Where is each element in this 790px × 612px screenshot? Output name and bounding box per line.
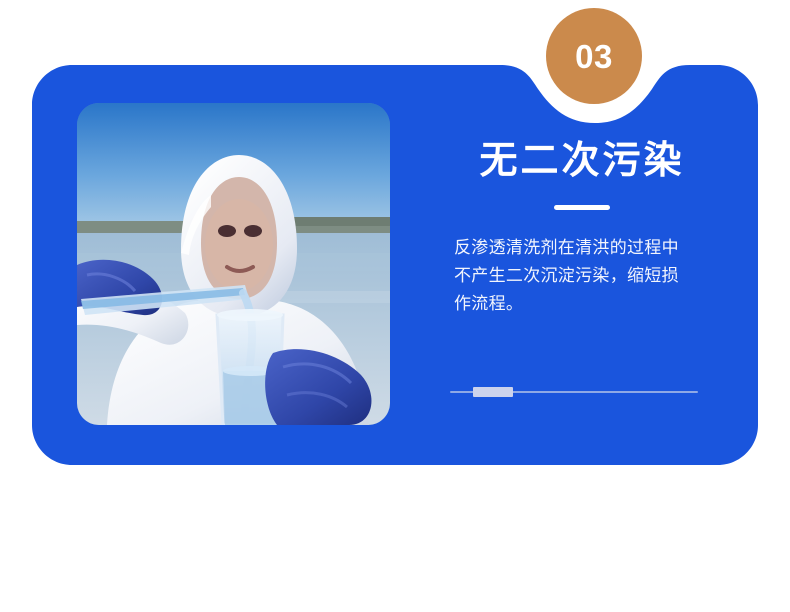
feature-photo-illustration [77,103,390,425]
step-badge-number: 03 [575,40,613,73]
feature-photo [77,103,390,425]
feature-text-column: 无二次污染 反渗透清洗剂在清洪的过程中 不产生二次沉淀污染，缩短损 作流程。 [432,140,732,318]
title-divider [554,205,610,210]
slide-canvas: 03 [0,0,790,612]
feature-body-line-3: 作流程。 [454,290,712,318]
feature-title: 无二次污染 [432,140,732,183]
step-badge: 03 [546,8,642,104]
progress-slider[interactable] [450,386,698,398]
progress-slider-thumb[interactable] [473,387,513,397]
feature-body-line-2: 不产生二次沉淀污染，缩短损 [454,262,712,290]
feature-body-line-1: 反渗透清洗剂在清洪的过程中 [454,234,712,262]
feature-body: 反渗透清洗剂在清洪的过程中 不产生二次沉淀污染，缩短损 作流程。 [432,234,712,318]
